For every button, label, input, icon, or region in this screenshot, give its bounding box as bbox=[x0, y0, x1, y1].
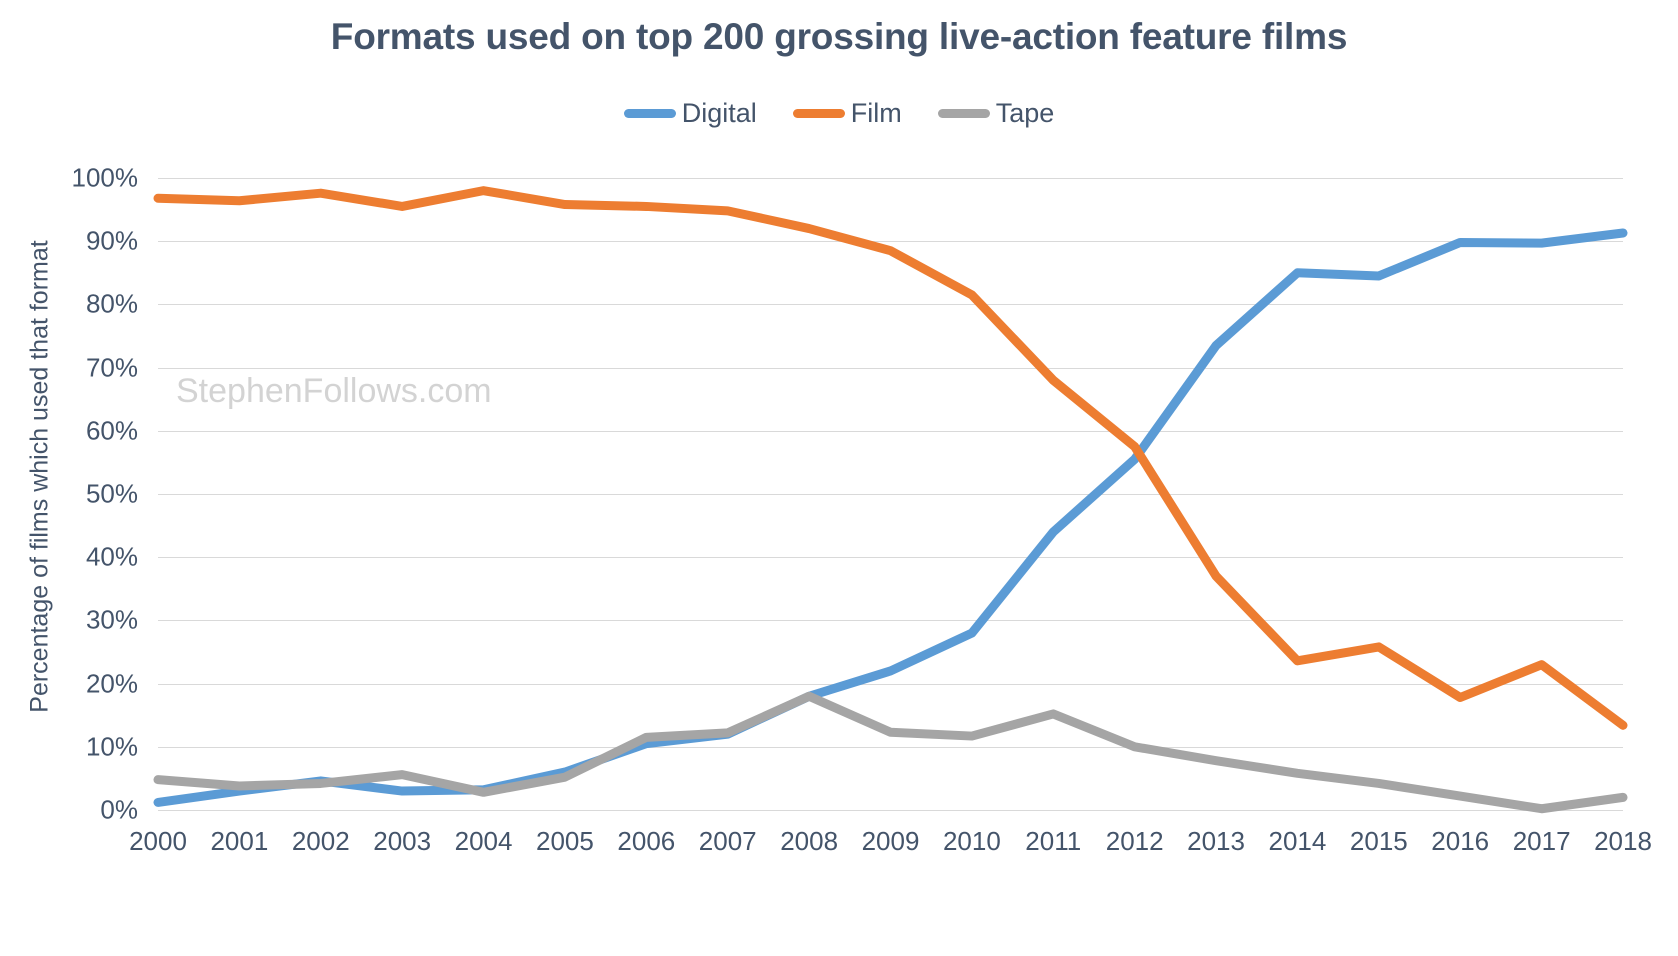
legend-swatch-icon bbox=[938, 109, 990, 118]
y-tick-label: 50% bbox=[48, 479, 138, 510]
y-tick-label: 90% bbox=[48, 226, 138, 257]
x-tick-label: 2018 bbox=[1563, 826, 1678, 857]
legend-entry-tape[interactable]: Tape bbox=[938, 98, 1055, 129]
y-tick-label: 40% bbox=[48, 542, 138, 573]
y-tick-label: 80% bbox=[48, 289, 138, 320]
y-tick-label: 20% bbox=[48, 668, 138, 699]
series-line-digital[interactable] bbox=[158, 233, 1623, 802]
legend-swatch-icon bbox=[624, 109, 676, 118]
series-line-film[interactable] bbox=[158, 191, 1623, 726]
y-tick-label: 60% bbox=[48, 415, 138, 446]
legend-entry-film[interactable]: Film bbox=[793, 98, 902, 129]
plot-area bbox=[158, 178, 1623, 810]
legend-swatch-icon bbox=[793, 109, 845, 118]
y-tick-label: 70% bbox=[48, 352, 138, 383]
y-tick-label: 30% bbox=[48, 605, 138, 636]
gridline bbox=[158, 810, 1623, 811]
chart-title: Formats used on top 200 grossing live-ac… bbox=[0, 16, 1678, 58]
legend-label: Tape bbox=[996, 98, 1055, 129]
y-axis-tick-labels: 100%90%80%70%60%50%40%30%20%10%0% bbox=[48, 178, 138, 810]
series-lines bbox=[158, 178, 1623, 810]
chart-container: Formats used on top 200 grossing live-ac… bbox=[0, 0, 1678, 956]
y-tick-label: 100% bbox=[48, 163, 138, 194]
y-tick-label: 0% bbox=[48, 795, 138, 826]
chart-legend: DigitalFilmTape bbox=[0, 98, 1678, 129]
legend-entry-digital[interactable]: Digital bbox=[624, 98, 757, 129]
y-tick-label: 10% bbox=[48, 731, 138, 762]
legend-label: Digital bbox=[682, 98, 757, 129]
legend-label: Film bbox=[851, 98, 902, 129]
